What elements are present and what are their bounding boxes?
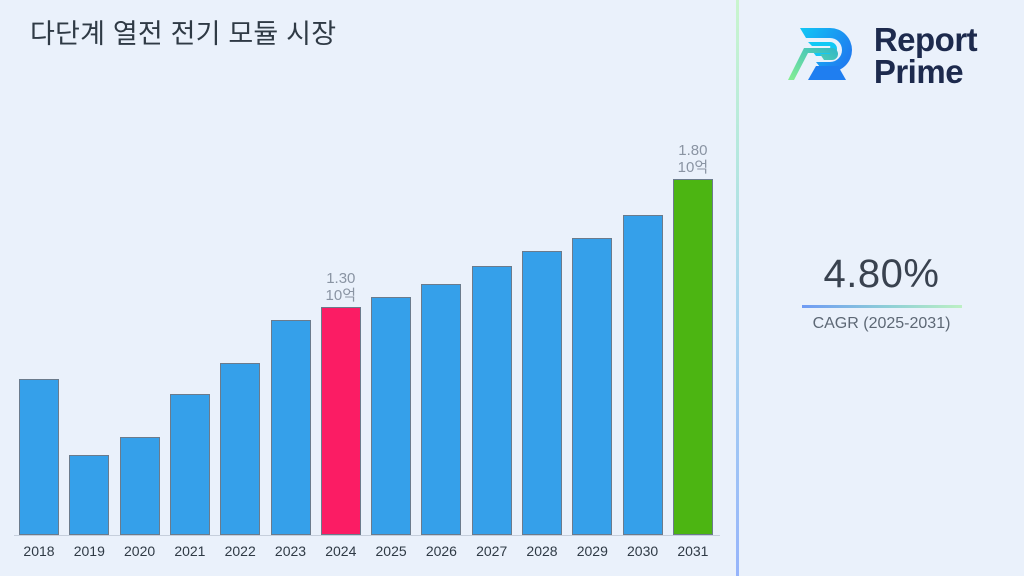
bar-2030[interactable]: 2030 <box>623 215 663 535</box>
bar-2031[interactable]: 1.8010억2031 <box>673 179 713 535</box>
x-tick-2021: 2021 <box>174 543 205 559</box>
x-tick-2028: 2028 <box>526 543 557 559</box>
x-tick-2030: 2030 <box>627 543 658 559</box>
brand-line-2: Prime <box>874 56 977 88</box>
cagr-caption: CAGR (2025-2031) <box>739 315 1024 333</box>
bar-group-2019: 2019 <box>66 455 112 535</box>
report-prime-r-logo-icon <box>786 18 862 95</box>
x-axis-line <box>14 535 720 536</box>
brand-wordmark: Report Prime <box>874 24 977 88</box>
bar-2029[interactable]: 2029 <box>572 238 612 535</box>
bar-group-2025: 2025 <box>368 297 414 535</box>
x-tick-2031: 2031 <box>677 543 708 559</box>
x-tick-2024: 2024 <box>325 543 356 559</box>
bar-chart-plot-area: 2018201920202021202220231.3010억202420252… <box>0 0 737 576</box>
bar-group-2031: 1.8010억2031 <box>670 179 716 535</box>
x-tick-2026: 2026 <box>426 543 457 559</box>
bar-group-2026: 2026 <box>418 284 464 535</box>
x-tick-2025: 2025 <box>376 543 407 559</box>
x-tick-2019: 2019 <box>74 543 105 559</box>
x-tick-2018: 2018 <box>23 543 54 559</box>
bar-2025[interactable]: 2025 <box>371 297 411 535</box>
bar-2027[interactable]: 2027 <box>472 266 512 535</box>
bar-group-2027: 2027 <box>469 266 515 535</box>
bar-value-label-2024: 1.3010억 <box>326 270 357 304</box>
bar-2024[interactable]: 1.3010억2024 <box>321 307 361 535</box>
bar-group-2020: 2020 <box>117 437 163 535</box>
bar-group-2023: 2023 <box>268 320 314 535</box>
bar-2019[interactable]: 2019 <box>69 455 109 535</box>
bar-group-2028: 2028 <box>519 251 565 535</box>
bar-group-2021: 2021 <box>167 394 213 535</box>
cagr-value: 4.80% <box>739 252 1024 297</box>
brand-logo: Report Prime <box>739 8 1024 104</box>
bar-2023[interactable]: 2023 <box>271 320 311 535</box>
bar-2018[interactable]: 2018 <box>19 379 59 535</box>
brand-line-1: Report <box>874 24 977 56</box>
x-tick-2029: 2029 <box>577 543 608 559</box>
side-panel: Report Prime 4.80% CAGR (2025-2031) <box>739 0 1024 576</box>
bar-2020[interactable]: 2020 <box>120 437 160 535</box>
x-tick-2020: 2020 <box>124 543 155 559</box>
x-tick-2027: 2027 <box>476 543 507 559</box>
bar-2026[interactable]: 2026 <box>421 284 461 535</box>
x-tick-2023: 2023 <box>275 543 306 559</box>
cagr-block: 4.80% CAGR (2025-2031) <box>739 252 1024 333</box>
x-tick-2022: 2022 <box>225 543 256 559</box>
bar-value-label-2031: 1.8010억 <box>678 142 709 176</box>
bar-group-2022: 2022 <box>217 363 263 535</box>
bar-2021[interactable]: 2021 <box>170 394 210 535</box>
bar-group-2030: 2030 <box>620 215 666 535</box>
bar-group-2024: 1.3010억2024 <box>318 307 364 535</box>
bar-group-2018: 2018 <box>16 379 62 535</box>
cagr-divider-rule <box>802 305 962 308</box>
bar-group-2029: 2029 <box>569 238 615 535</box>
chart-panel: 다단계 열전 전기 모듈 시장 201820192020202120222023… <box>0 0 737 576</box>
bar-2028[interactable]: 2028 <box>522 251 562 535</box>
bar-2022[interactable]: 2022 <box>220 363 260 535</box>
